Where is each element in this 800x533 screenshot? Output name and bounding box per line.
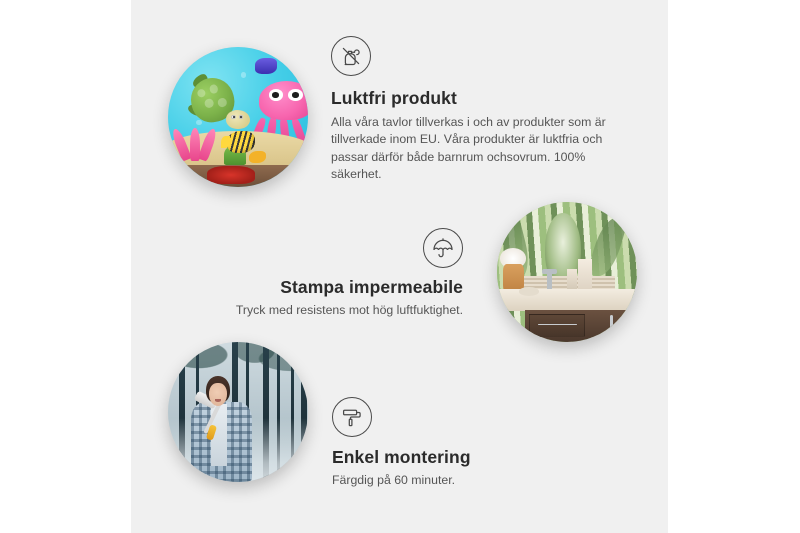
- painter-person: [188, 376, 266, 482]
- feature-odour-title: Luktfri produkt: [331, 88, 631, 109]
- turtle-eye: [231, 115, 236, 119]
- paint-roller-icon: [332, 397, 372, 437]
- product-image-bathroom-scene: [497, 202, 637, 342]
- feature-easy-mounting: Enkel montering Färgdig på 60 minuter.: [332, 397, 592, 489]
- feature-mounting-icon-wrap: [332, 397, 592, 437]
- turtle-icon: [188, 78, 248, 131]
- turtle-shell-spot: [217, 97, 227, 107]
- turtle-shell-spot: [197, 88, 207, 98]
- product-image-forest-painter-scene: [168, 342, 308, 482]
- turtle-shell-spot: [209, 83, 219, 93]
- feature-odour-free: Luktfri produkt Alla våra tavlor tillver…: [331, 36, 631, 183]
- turtle-head: [226, 110, 250, 129]
- soap-dish: [519, 287, 539, 295]
- feature-waterproof-print: Stampa impermeabile Tryck med resistens …: [163, 228, 463, 319]
- feature-mounting-body: Färgdig på 60 minuter.: [332, 472, 592, 489]
- coral-arm: [198, 128, 218, 162]
- feature-waterproof-body: Tryck med resistens mot hög luftfuktighe…: [163, 302, 463, 319]
- sea-scene-foreground: [168, 165, 308, 187]
- vanity-cabinet: [525, 310, 637, 342]
- soap-bottle: [567, 269, 577, 290]
- feature-odour-body: Alla våra tavlor tillverkas i och av pro…: [331, 114, 623, 183]
- turtle-eye: [239, 115, 244, 119]
- feature-waterproof-icon-wrap: [163, 228, 463, 268]
- feature-waterproof-title: Stampa impermeabile: [163, 277, 463, 298]
- octopus-head: [259, 81, 308, 120]
- pink-coral-icon: [176, 128, 221, 164]
- feature-mounting-title: Enkel montering: [332, 447, 592, 468]
- face: [209, 383, 227, 406]
- feature-odour-icon-wrap: [331, 36, 631, 76]
- blue-fish-icon: [255, 58, 277, 73]
- feature-banner: Luktfri produkt Alla våra tavlor tillver…: [0, 0, 800, 533]
- octopus-eye: [269, 89, 283, 101]
- no-fragrance-icon: [331, 36, 371, 76]
- cabinet-drawer: [529, 314, 585, 337]
- countertop: [497, 289, 637, 311]
- yellow-striped-fish-icon: [227, 131, 255, 153]
- soap-bottle: [578, 259, 592, 290]
- bathroom-scene-artwork: [497, 202, 637, 342]
- faucet-icon: [547, 269, 551, 289]
- sea-scene-artwork: [168, 47, 308, 187]
- cabinet-door-handle: [610, 315, 613, 335]
- forest-painter-artwork: [168, 342, 308, 482]
- umbrella-icon: [423, 228, 463, 268]
- turtle-shell-spot: [204, 98, 214, 108]
- product-image-sea-scene: [168, 47, 308, 187]
- octopus-eye: [288, 89, 302, 101]
